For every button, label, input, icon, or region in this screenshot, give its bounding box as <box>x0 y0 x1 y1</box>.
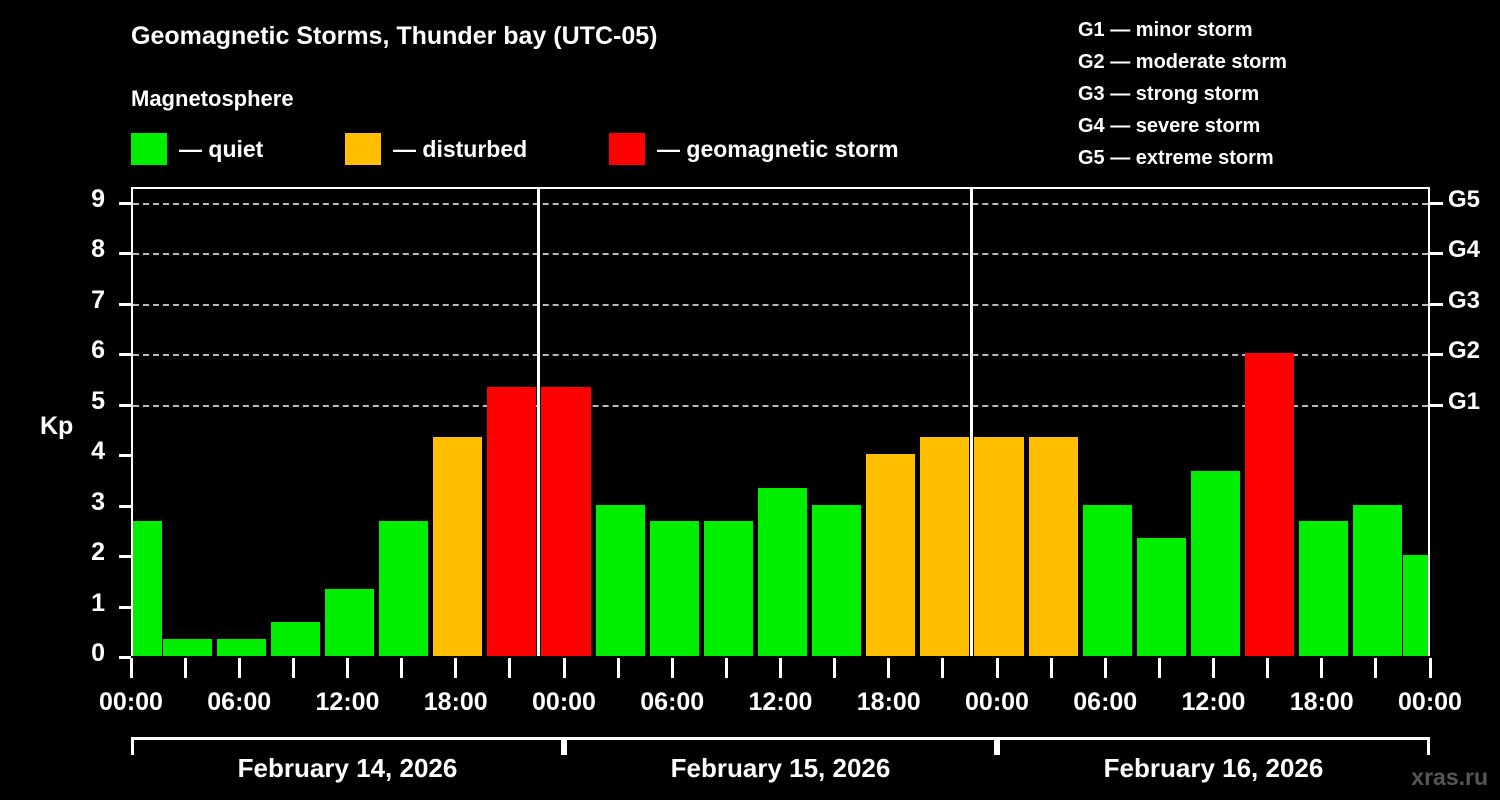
x-axis-tick <box>563 658 566 678</box>
legend-swatch-storm <box>609 133 645 165</box>
y-axis-label: 3 <box>65 488 105 517</box>
g-axis-label: G3 <box>1448 287 1480 315</box>
y-axis-label: 5 <box>65 387 105 416</box>
y-axis-label: 8 <box>65 235 105 264</box>
y-axis-label: 0 <box>65 639 105 668</box>
x-axis-tick <box>238 658 241 678</box>
x-axis-label: 12:00 <box>1182 688 1246 717</box>
x-axis-label: 06:00 <box>1073 688 1137 717</box>
y-axis-label: 2 <box>65 538 105 567</box>
x-axis-tick <box>346 658 349 678</box>
x-axis-tick <box>454 658 457 678</box>
y-axis-tick <box>119 454 131 457</box>
x-axis-tick <box>1320 658 1323 678</box>
day-separator <box>970 189 973 656</box>
x-axis-tick <box>671 658 674 678</box>
x-axis-tick <box>779 658 782 678</box>
x-axis-tick <box>400 658 403 678</box>
bar-1-0600 <box>650 521 699 656</box>
x-axis-label: 18:00 <box>424 688 488 717</box>
y-axis-tick <box>119 252 131 255</box>
bar-1-0300 <box>596 505 645 657</box>
legend-item: — disturbed <box>345 133 527 167</box>
bar-0-1800 <box>433 437 482 656</box>
x-axis-label: 18:00 <box>857 688 921 717</box>
y-axis-tick <box>119 303 131 306</box>
y-axis-label: 7 <box>65 286 105 315</box>
bar-0-1500 <box>379 521 428 656</box>
x-axis-tick <box>887 658 890 678</box>
day-label: February 16, 2026 <box>1104 753 1324 784</box>
x-axis-tick <box>1104 658 1107 678</box>
x-axis-label: 00:00 <box>99 688 163 717</box>
x-axis-label: 06:00 <box>207 688 271 717</box>
x-axis-label: 12:00 <box>749 688 813 717</box>
bar-2-1500 <box>1245 353 1294 656</box>
x-axis-label: 00:00 <box>1398 688 1462 717</box>
g-axis-tick <box>1430 303 1443 306</box>
bar-1-1500 <box>812 505 861 657</box>
day-label: February 14, 2026 <box>238 753 458 784</box>
x-axis-tick <box>508 658 511 678</box>
g-scale-entry: G1 — minor storm <box>1078 14 1287 46</box>
x-axis-tick <box>1050 658 1053 678</box>
y-axis-label: 1 <box>65 589 105 618</box>
x-axis-tick <box>130 658 133 678</box>
y-axis-label: 6 <box>65 336 105 365</box>
x-axis-tick <box>996 658 999 678</box>
g-scale-entry: G3 — strong storm <box>1078 78 1287 110</box>
g-scale-legend: G1 — minor stormG2 — moderate stormG3 — … <box>1078 14 1287 174</box>
g-axis-label: G4 <box>1448 236 1480 264</box>
day-separator <box>537 189 540 656</box>
gridline <box>133 253 1428 255</box>
g-axis-tick <box>1430 202 1443 205</box>
bar-0-0000 <box>133 521 162 656</box>
gridline <box>133 203 1428 205</box>
bar-0-1200 <box>325 589 374 656</box>
legend-item: — geomagnetic storm <box>609 133 899 167</box>
x-axis-tick <box>1266 658 1269 678</box>
g-axis-label: G1 <box>1448 388 1480 416</box>
chart-subtitle: Magnetosphere <box>131 86 294 112</box>
bar-2-1800 <box>1299 521 1348 656</box>
x-axis-label: 00:00 <box>965 688 1029 717</box>
g-axis-tick <box>1430 353 1443 356</box>
x-axis-tick <box>1212 658 1215 678</box>
x-axis-tick <box>617 658 620 678</box>
g-axis-tick <box>1430 404 1443 407</box>
g-scale-entry: G4 — severe storm <box>1078 110 1287 142</box>
x-axis-tick <box>725 658 728 678</box>
x-axis-label: 06:00 <box>640 688 704 717</box>
y-axis-tick <box>119 505 131 508</box>
y-axis-tick <box>119 404 131 407</box>
legend-swatch-disturbed <box>345 133 381 165</box>
y-axis-tick <box>119 353 131 356</box>
bar-2-0900 <box>1137 538 1186 656</box>
watermark: xras.ru <box>1411 764 1488 791</box>
g-axis-label: G5 <box>1448 186 1480 214</box>
y-axis-label: 4 <box>65 437 105 466</box>
plot-inner <box>133 189 1428 656</box>
bar-1-1800 <box>866 454 915 656</box>
bar-1-0000 <box>541 387 590 656</box>
y-axis-tick <box>119 555 131 558</box>
bar-2-0600 <box>1083 505 1132 657</box>
gridline <box>133 405 1428 407</box>
legend-item-label: — disturbed <box>393 136 527 163</box>
bar-1-0900 <box>704 521 753 656</box>
legend-item-label: — quiet <box>179 136 263 163</box>
y-axis-tick <box>119 606 131 609</box>
x-axis-label: 00:00 <box>532 688 596 717</box>
bar-2-2100 <box>1353 505 1402 657</box>
y-axis-label: 9 <box>65 185 105 214</box>
legend-item: — quiet <box>131 133 263 167</box>
x-axis-tick <box>1374 658 1377 678</box>
g-scale-entry: G5 — extreme storm <box>1078 142 1287 174</box>
page-title: Geomagnetic Storms, Thunder bay (UTC-05) <box>131 22 657 51</box>
bar-0-0900 <box>271 622 320 656</box>
g-scale-entry: G2 — moderate storm <box>1078 46 1287 78</box>
bar-0-2100 <box>487 387 536 656</box>
g-axis-label: G2 <box>1448 337 1480 365</box>
day-label: February 15, 2026 <box>671 753 891 784</box>
bar-3-0000 <box>1403 555 1428 656</box>
gridline <box>133 354 1428 356</box>
gridline <box>133 304 1428 306</box>
bar-2-0000 <box>974 437 1023 656</box>
g-axis-tick <box>1430 252 1443 255</box>
x-axis-label: 12:00 <box>316 688 380 717</box>
x-axis-tick <box>292 658 295 678</box>
x-axis-tick <box>941 658 944 678</box>
legend-item-label: — geomagnetic storm <box>657 136 899 163</box>
chart-root: Geomagnetic Storms, Thunder bay (UTC-05)… <box>0 0 1500 800</box>
x-axis-tick <box>833 658 836 678</box>
plot-area <box>131 187 1430 656</box>
y-axis-tick <box>119 202 131 205</box>
x-axis-tick <box>184 658 187 678</box>
bar-2-1200 <box>1191 471 1240 656</box>
legend-swatch-quiet <box>131 133 167 165</box>
x-axis-label: 18:00 <box>1290 688 1354 717</box>
bar-0-0600 <box>217 639 266 656</box>
bar-1-1200 <box>758 488 807 656</box>
bar-1-2100 <box>920 437 969 656</box>
x-axis-tick <box>1429 658 1432 678</box>
bar-0-0300 <box>163 639 212 656</box>
bar-2-0300 <box>1029 437 1078 656</box>
x-axis-tick <box>1158 658 1161 678</box>
